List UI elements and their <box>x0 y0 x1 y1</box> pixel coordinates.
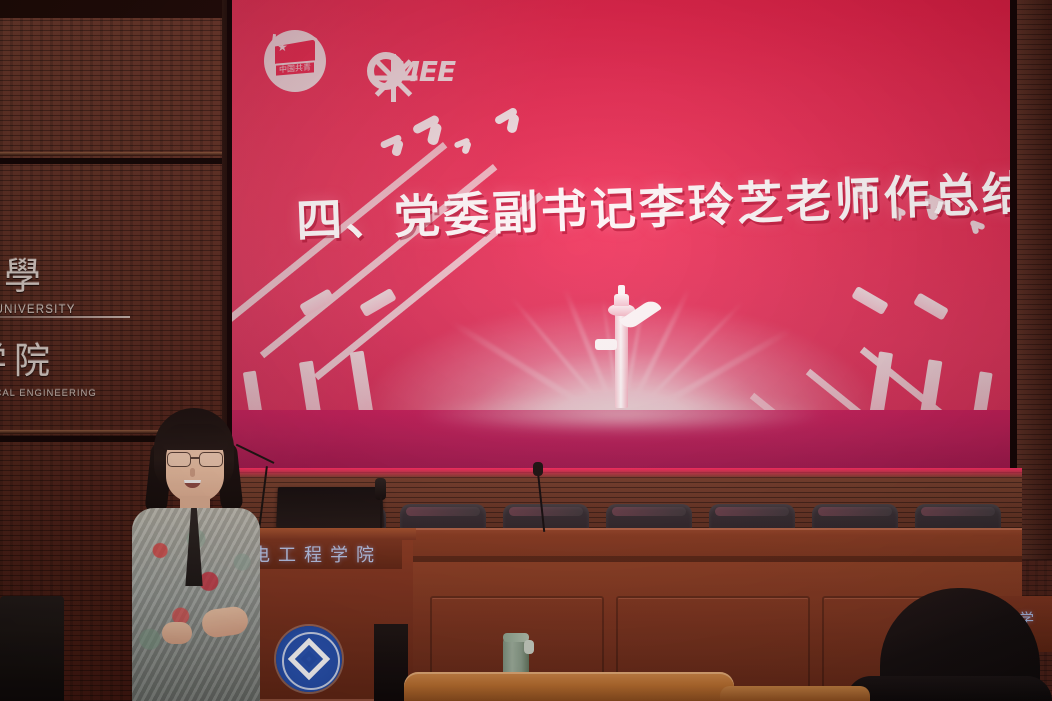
wall-groove <box>0 158 232 164</box>
foreground-chair-back <box>720 686 870 701</box>
school-name-en: ND ELECTRICAL ENGINEERING <box>0 388 144 399</box>
university-name-cn: 南大學 <box>0 246 130 300</box>
school-wall-sign: 程学院 ND ELECTRICAL ENGINEERING <box>0 332 144 399</box>
microphone-icon <box>533 462 543 476</box>
speaker <box>128 408 264 701</box>
speaker-cabinet <box>0 596 64 701</box>
wall-trim <box>0 0 232 18</box>
speaker-cabinet <box>374 624 408 701</box>
hand <box>162 622 192 644</box>
auditorium-scene: 南大學 RAL SOUTH UNIVERSITY 程学院 ND ELECTRIC… <box>0 0 1052 701</box>
led-screen: ★ 中国共青团 MEE 四、党委副书记李玲芝老师作总结点评 <box>232 0 1010 468</box>
school-name-cn: 程学院 <box>0 332 144 384</box>
eyeglasses-icon <box>166 452 224 466</box>
university-name-en: RAL SOUTH UNIVERSITY <box>0 304 130 316</box>
audience-shoulder <box>846 676 1052 701</box>
foreground-chair-back <box>404 672 734 701</box>
wall-sign-divider <box>0 316 130 318</box>
wall-groove <box>0 152 232 156</box>
university-wall-sign: 南大學 RAL SOUTH UNIVERSITY <box>0 246 130 316</box>
monument-tower-graphic <box>604 280 638 408</box>
podium-monitor[interactable] <box>276 487 384 528</box>
university-seal-icon <box>276 626 342 692</box>
